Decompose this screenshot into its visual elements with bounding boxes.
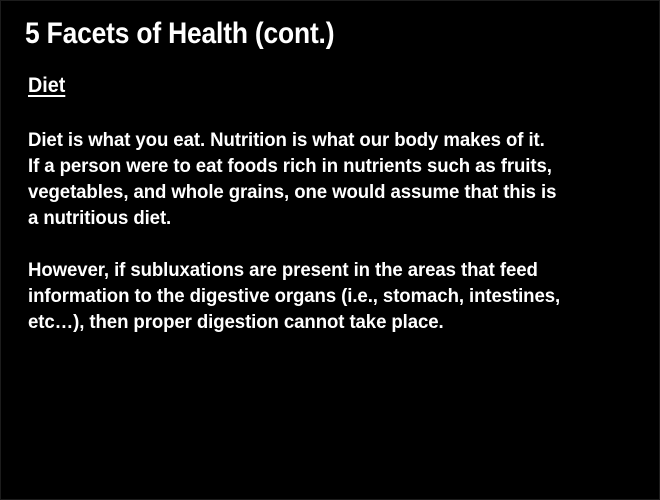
body-line: information to the digestive organs (i.e… bbox=[28, 283, 614, 309]
body-line: etc…), then proper digestion cannot take… bbox=[28, 309, 614, 335]
section-subheading-diet: Diet bbox=[28, 73, 65, 99]
body-paragraph-2: However, if subluxations are present in … bbox=[28, 257, 614, 335]
body-line: If a person were to eat foods rich in nu… bbox=[28, 153, 614, 179]
body-line: However, if subluxations are present in … bbox=[28, 257, 614, 283]
body-line: a nutritious diet. bbox=[28, 205, 614, 231]
slide-title: 5 Facets of Health (cont.) bbox=[25, 17, 562, 51]
body-paragraph-1: Diet is what you eat. Nutrition is what … bbox=[28, 127, 614, 231]
presentation-slide: 5 Facets of Health (cont.) Diet Diet is … bbox=[0, 0, 660, 500]
body-line: Diet is what you eat. Nutrition is what … bbox=[28, 127, 614, 153]
body-line: vegetables, and whole grains, one would … bbox=[28, 179, 614, 205]
